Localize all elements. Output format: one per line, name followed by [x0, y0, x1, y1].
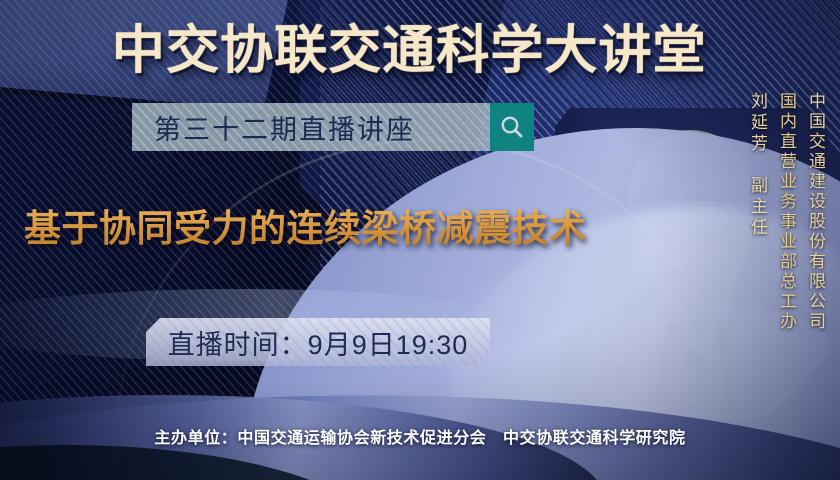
- speaker-name: 刘延芳 副主任: [745, 92, 770, 239]
- broadcast-time-badge: 直播时间：9月9日19:30: [146, 318, 490, 366]
- session-bar: 第三十二期直播讲座: [132, 103, 534, 151]
- speaker-credits: 刘延芳 副主任 国内直营业务事业部总工办 中国交通建设股份有限公司: [745, 92, 828, 332]
- search-icon: [499, 114, 525, 140]
- lecture-title: 基于协同受力的连续梁桥减震技术: [24, 207, 604, 251]
- organizer-footer: 主办单位：中国交通运输协会新技术促进分会 中交协联交通科学研究院: [0, 424, 840, 448]
- search-button[interactable]: [490, 103, 534, 151]
- broadcast-time-text: 直播时间：9月9日19:30: [168, 323, 469, 362]
- session-label: 第三十二期直播讲座: [132, 103, 490, 151]
- page-title: 中交协联交通科学大讲堂: [112, 22, 734, 80]
- live-lecture-poster: 中交协联交通科学大讲堂 第三十二期直播讲座 基于协同受力的连续梁桥减震技术 直播…: [0, 0, 840, 480]
- speaker-organization: 中国交通建设股份有限公司: [803, 92, 828, 332]
- speaker-department: 国内直营业务事业部总工办: [774, 92, 799, 332]
